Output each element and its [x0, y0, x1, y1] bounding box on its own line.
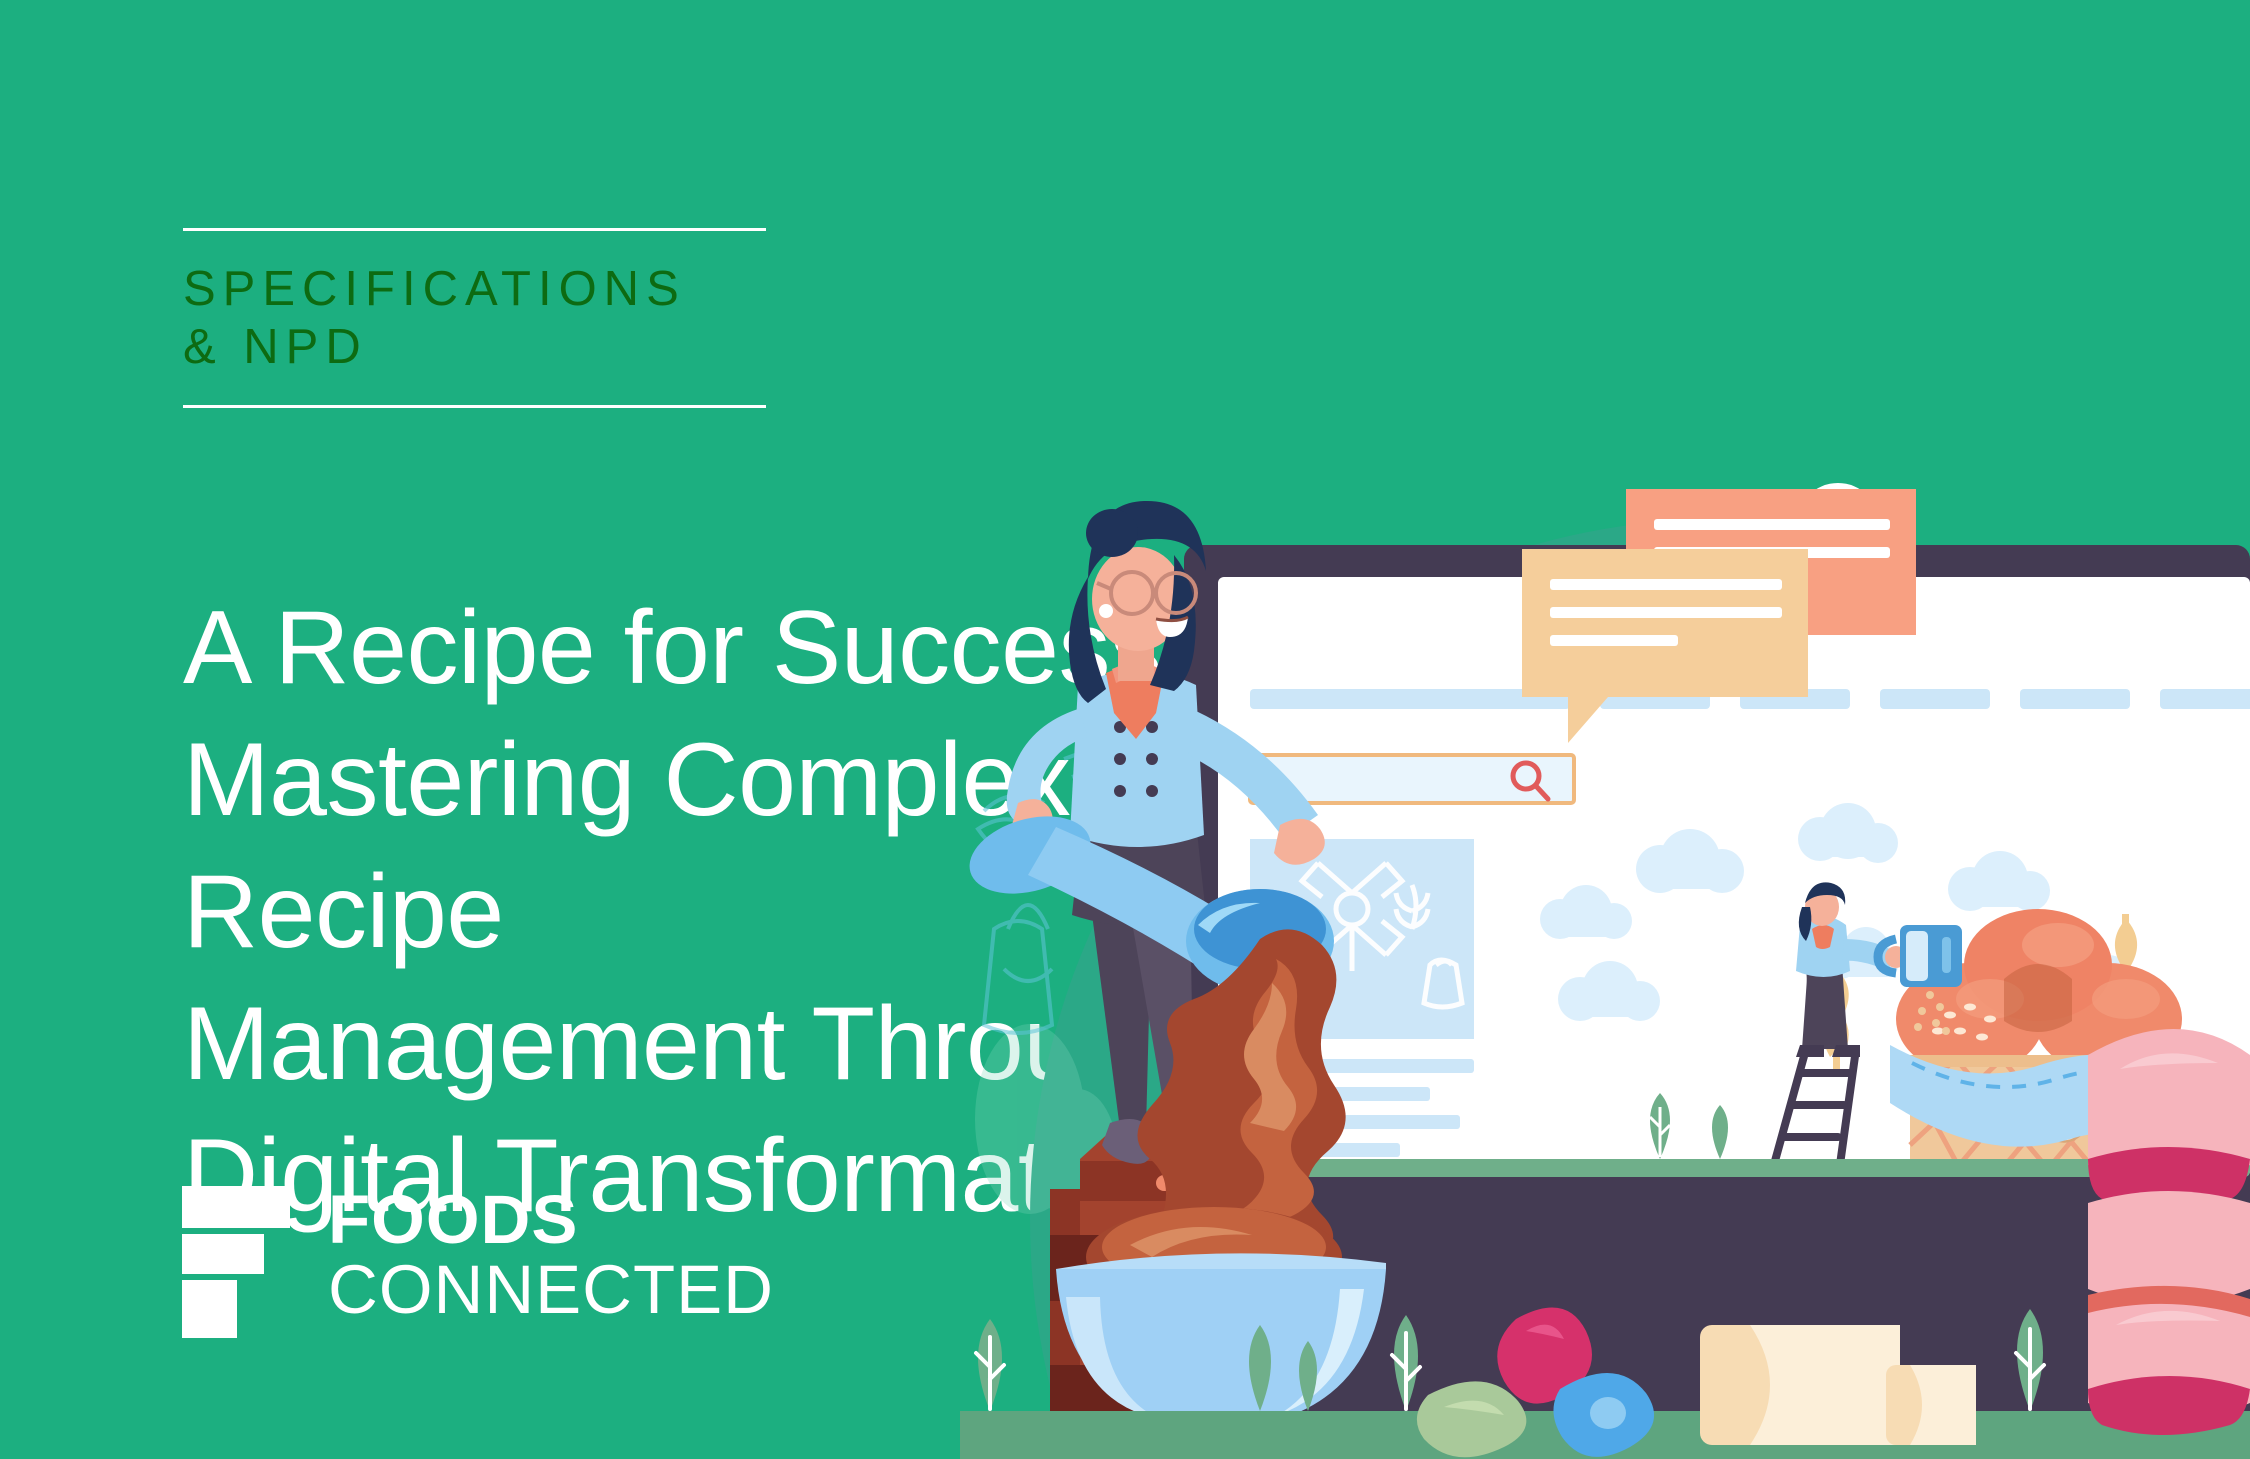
logo-bar-bottom: [182, 1280, 237, 1338]
slide-canvas: SPECIFICATIONS & NPD A Recipe for Succes…: [0, 0, 2250, 1459]
hero-illustration: [960, 459, 2250, 1459]
logo-f-mark-icon: [182, 1186, 290, 1338]
logo-word-foods: FOODS: [328, 1188, 774, 1253]
rule-bottom: [183, 405, 766, 408]
logo-wordmark: FOODS CONNECTED: [328, 1186, 774, 1324]
category-label-block: SPECIFICATIONS & NPD: [183, 228, 766, 408]
category-label: SPECIFICATIONS & NPD: [183, 231, 766, 405]
logo-word-connected: CONNECTED: [328, 1255, 774, 1324]
logo-bar-middle: [182, 1234, 264, 1274]
brand-logo: FOODS CONNECTED: [182, 1186, 774, 1338]
logo-bar-top: [182, 1186, 290, 1228]
